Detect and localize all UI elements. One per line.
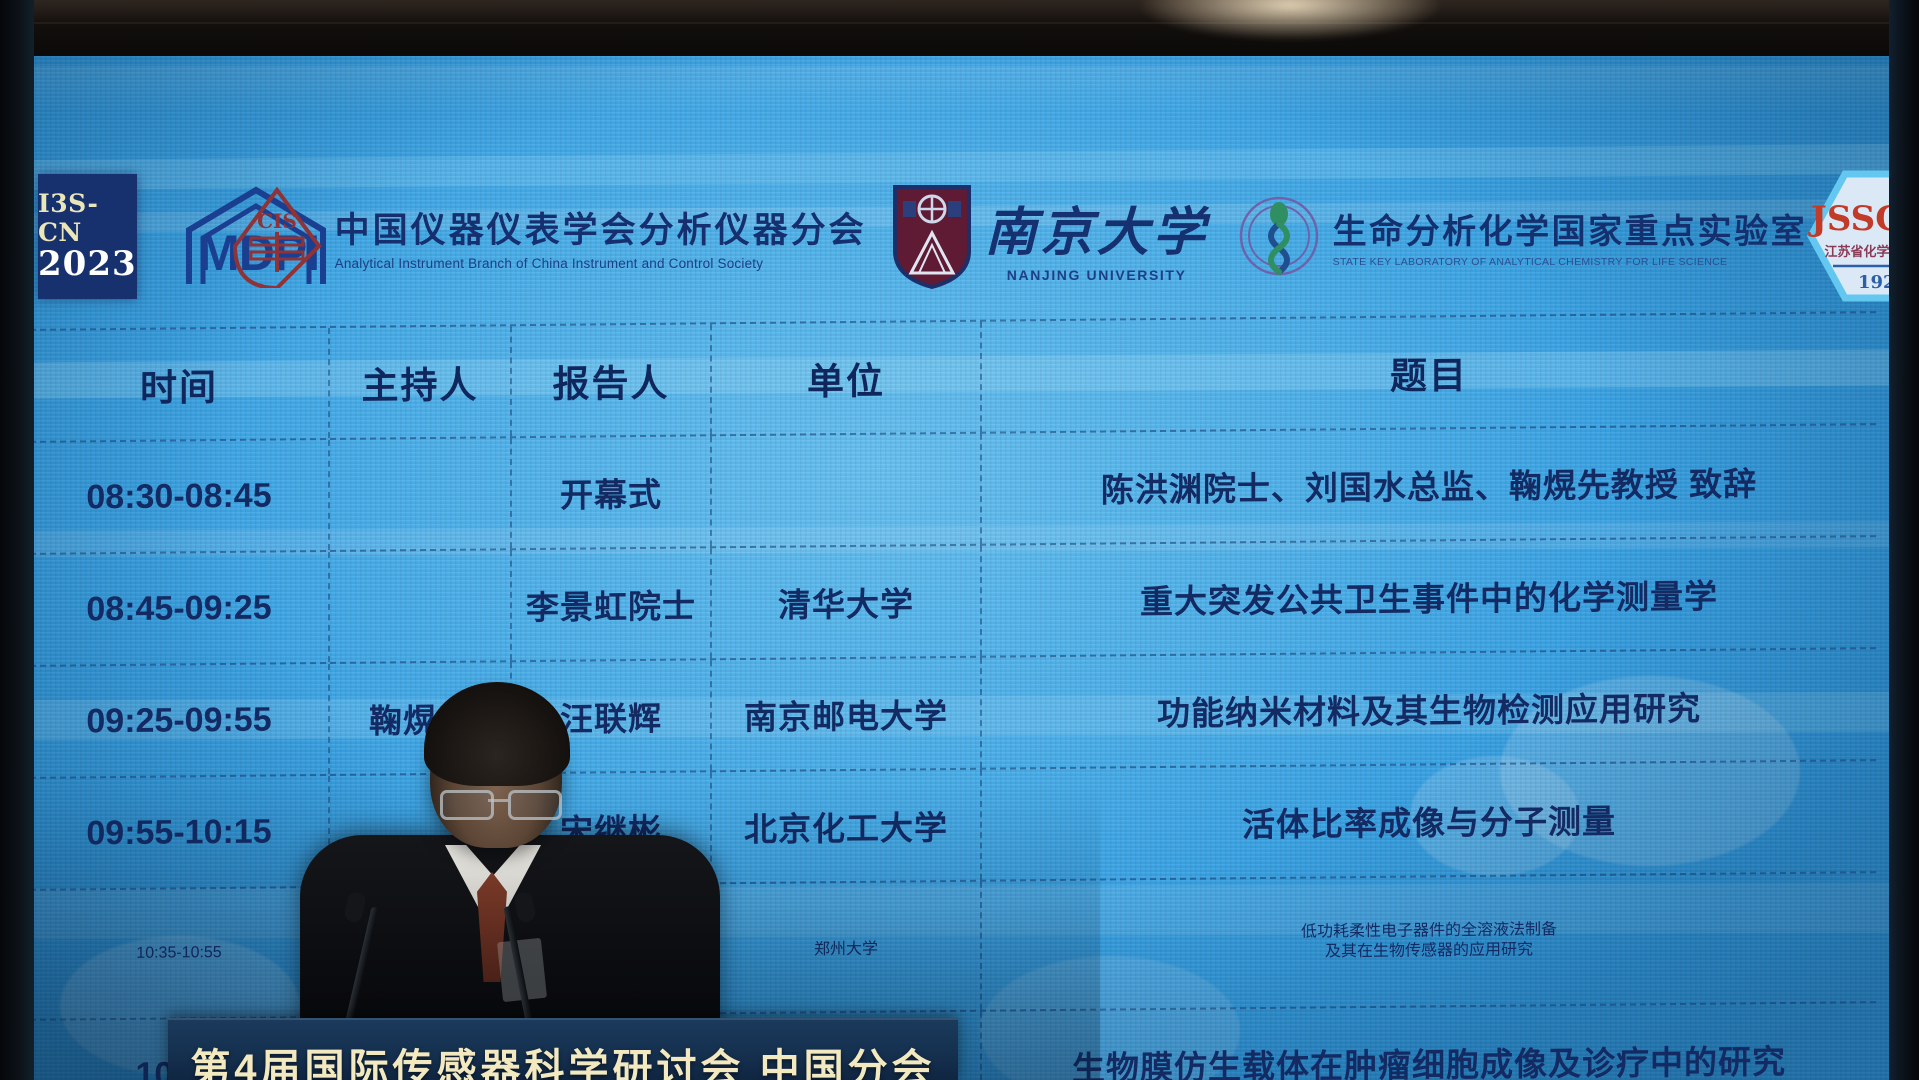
nanjing-university-crest-icon (889, 181, 975, 291)
year-2023-text: 2023 (38, 247, 137, 283)
state-key-lab-emblem-icon (1237, 184, 1321, 288)
cis-emblem-icon: CIS (225, 184, 329, 288)
cis-name-block: 中国仪器仪表学会分析仪器分会 Analytical Instrument Bra… (335, 202, 867, 271)
cell-title: 生物膜仿生载体在肿瘤细胞成像及诊疗中的研究 (982, 1003, 1876, 1080)
glasses-lens-right (508, 790, 562, 820)
skl-name-block: 生命分析化学国家重点实验室 STATE KEY LABORATORY OF AN… (1333, 204, 1808, 268)
i3s-cn-2023-badge: I3S-CN 2023 (38, 174, 137, 299)
i3s-cn-text: I3S-CN (38, 189, 137, 247)
led-screen: I3S-CN 2023 MDPI CIS (0, 56, 1919, 1080)
cis-diamond-icon: CIS (225, 184, 329, 288)
cis-name-en: Analytical Instrument Branch of China In… (335, 256, 867, 271)
cell-host (330, 550, 512, 662)
cell-speaker: 李景虹院士 (512, 548, 712, 660)
cell-time: 10:35-10:55 (30, 888, 330, 1019)
cell-time: 08:30-08:45 (30, 440, 330, 553)
wall-right-edge (1889, 0, 1919, 1080)
cell-org: 南京邮电大学 (712, 658, 982, 771)
column-header-title: 题目 (982, 313, 1876, 432)
ceiling (0, 0, 1919, 64)
podium-banner-text: 第4届国际传感器科学研讨会 中国分会 (190, 1036, 935, 1080)
cell-title: 活体比率成像与分子测量 (982, 761, 1876, 880)
wall-left-edge (0, 0, 34, 1080)
cell-time: 08:45-09:25 (30, 552, 330, 665)
nju-shield-icon (889, 181, 975, 291)
glasses-bridge (488, 799, 508, 802)
ceiling-beam (0, 0, 1919, 22)
cell-time: 09:25-09:55 (30, 664, 330, 777)
cis-name-cn: 中国仪器仪表学会分析仪器分会 (335, 202, 867, 253)
cell-title-line1: 低功耗柔性电子器件的全溶液法制备 (1301, 920, 1557, 943)
column-header-speaker: 报告人 (512, 324, 712, 436)
table-row: 09:25-09:55 鞠熀先 汪联辉 南京邮电大学 功能纳米材料及其生物检测应… (30, 649, 1876, 779)
svg-text:CIS: CIS (257, 209, 297, 233)
cell-title: 低功耗柔性电子器件的全溶液法制备 及其在生物传感器的应用研究 (982, 873, 1876, 1010)
cell-org: 郑州大学 (712, 882, 982, 1013)
nju-name-en: NANJING UNIVERSITY (985, 267, 1209, 283)
cell-org: 北京化工大学 (712, 770, 982, 883)
column-header-time: 时间 (30, 328, 330, 441)
conference-photo: I3S-CN 2023 MDPI CIS (0, 0, 1919, 1080)
cell-time: 09:55-10:15 (30, 776, 330, 889)
nju-name-cn: 南京大学 (985, 190, 1209, 265)
cell-host (330, 438, 512, 550)
cell-speaker: 开幕式 (512, 436, 712, 548)
table-row: 08:30-08:45 开幕式 陈洪渊院士、刘国水总监、鞠熀先教授 致辞 (30, 425, 1876, 555)
skl-name-cn: 生命分析化学国家重点实验室 (1333, 204, 1808, 253)
cell-title: 功能纳米材料及其生物检测应用研究 (982, 649, 1876, 768)
cell-org: 清华大学 (712, 546, 982, 659)
glasses-lens-left (440, 790, 494, 820)
backdrop-band (0, 66, 1919, 112)
column-header-org: 单位 (712, 322, 982, 435)
skl-helix-icon (1237, 184, 1321, 288)
cell-title-line2: 及其在生物传感器的应用研究 (1301, 940, 1557, 963)
speaker-glasses (440, 790, 560, 816)
column-header-host: 主持人 (330, 326, 512, 438)
podium: 第4届国际传感器科学研讨会 中国分会 (168, 1018, 958, 1080)
skl-name-en: STATE KEY LABORATORY OF ANALYTICAL CHEMI… (1333, 256, 1808, 268)
cell-org (712, 434, 982, 547)
nju-name-block: 南京大学 NANJING UNIVERSITY (985, 190, 1209, 283)
cell-title: 陈洪渊院士、刘国水总监、鞠熀先教授 致辞 (982, 425, 1876, 544)
table-header-row: 时间 主持人 报告人 单位 题目 (30, 311, 1876, 443)
table-row: 08:45-09:25 李景虹院士 清华大学 重大突发公共卫生事件中的化学测量学 (30, 537, 1876, 667)
cell-title: 重大突发公共卫生事件中的化学测量学 (982, 537, 1876, 656)
sponsor-logo-bar: I3S-CN 2023 MDPI CIS (0, 156, 1919, 316)
